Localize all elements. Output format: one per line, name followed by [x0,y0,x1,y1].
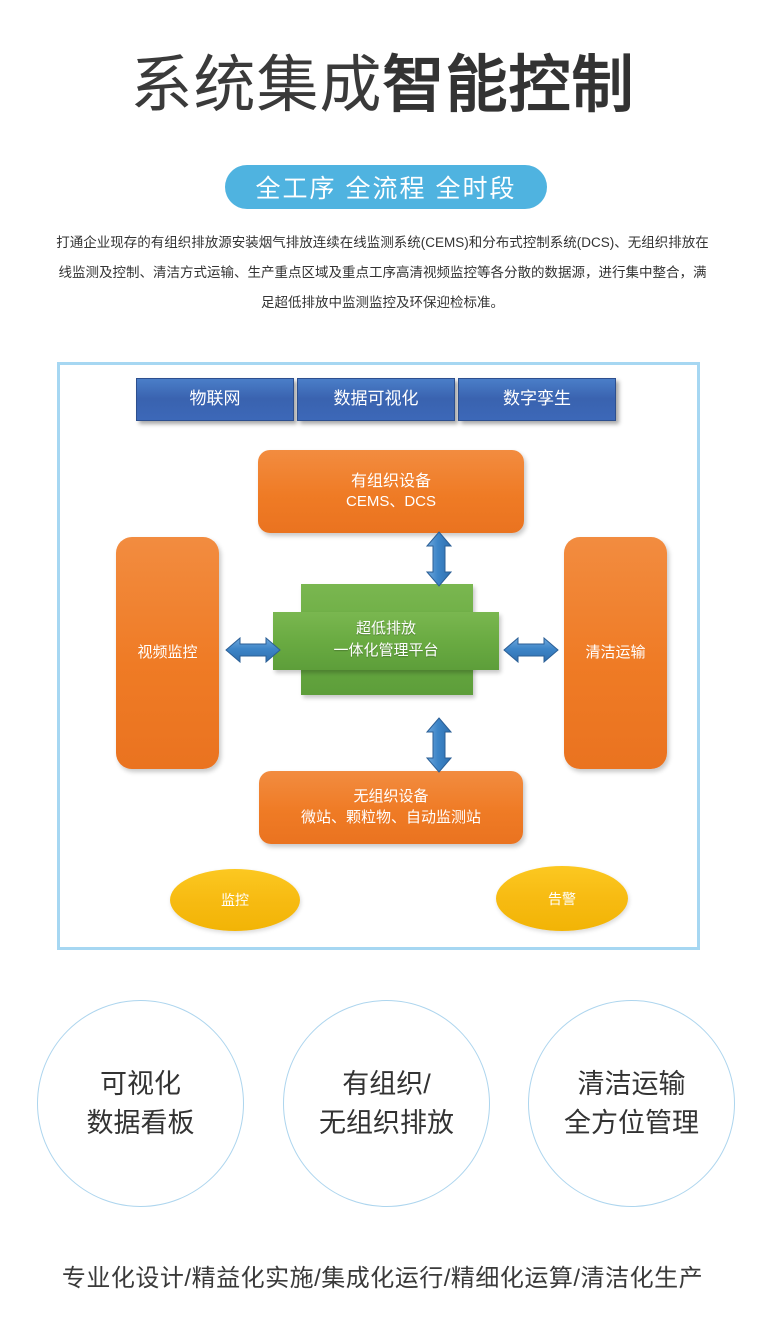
feature-circle-visualization-line1: 可视化 [100,1065,181,1103]
diagram-tag-digital-twin-label: 数字孪生 [503,388,571,411]
diagram-node-organized-equipment: 有组织设备 CEMS、DCS [258,450,524,533]
diagram-node-platform: 超低排放 一体化管理平台 [273,584,499,695]
feature-circle-visualization: 可视化 数据看板 [37,1000,244,1207]
diagram-node-unorganized-equipment: 无组织设备 微站、颗粒物、自动监测站 [259,771,523,844]
subtitle-badge: 全工序 全流程 全时段 [225,165,547,209]
video-monitoring-label: 视频监控 [137,643,197,663]
diagram-ellipse-monitoring: 监控 [170,869,300,931]
feature-circle-clean-transport-line2: 全方位管理 [564,1104,699,1142]
diagram-ellipse-alarm: 告警 [496,866,628,931]
platform-line1: 超低排放 [356,618,416,640]
diagram-tag-iot-label: 物联网 [190,388,241,411]
page-title-light: 系统集成 [130,51,382,120]
platform-line2: 一体化管理平台 [333,640,438,662]
arrow-up-down-bottom [426,717,452,773]
diagram-node-clean-transport: 清洁运输 [564,537,667,769]
arrow-up-down-top [426,531,452,587]
feature-circle-emissions: 有组织/ 无组织排放 [283,1000,490,1207]
feature-circle-clean-transport: 清洁运输 全方位管理 [528,1000,735,1207]
ellipse-monitoring-label: 监控 [221,890,249,910]
diagram-tag-data-visualization: 数据可视化 [297,378,455,421]
footer-tagline: 专业化设计/精益化实施/集成化运行/精细化运算/清洁化生产 [0,1258,765,1293]
ellipse-alarm-label: 告警 [548,889,576,909]
platform-label: 超低排放 一体化管理平台 [273,584,499,695]
diagram-tag-digital-twin: 数字孪生 [458,378,616,421]
feature-circle-emissions-line1: 有组织/ [342,1065,431,1103]
feature-circle-visualization-line2: 数据看板 [87,1104,195,1142]
feature-circle-clean-transport-line1: 清洁运输 [578,1065,686,1103]
unorganized-equipment-line1: 无组织设备 [353,787,428,807]
diagram-tag-data-visualization-label: 数据可视化 [334,388,419,411]
page-title: 系统集成智能控制 [0,55,765,117]
arrow-left-right-right [503,637,559,663]
organized-equipment-line2: CEMS、DCS [346,492,436,512]
description-paragraph: 打通企业现存的有组织排放源安装烟气排放连续在线监测系统(CEMS)和分布式控制系… [55,228,710,318]
page-title-bold: 智能控制 [383,51,635,120]
feature-circle-emissions-line2: 无组织排放 [319,1104,454,1142]
diagram-tag-iot: 物联网 [136,378,294,421]
organized-equipment-line1: 有组织设备 [351,471,431,493]
clean-transport-label: 清洁运输 [585,643,645,663]
unorganized-equipment-line2: 微站、颗粒物、自动监测站 [301,808,481,828]
diagram-node-video-monitoring: 视频监控 [116,537,219,769]
architecture-diagram: 物联网 数据可视化 数字孪生 有组织设备 CEMS、DCS 视频监控 清洁运输 … [57,362,700,950]
